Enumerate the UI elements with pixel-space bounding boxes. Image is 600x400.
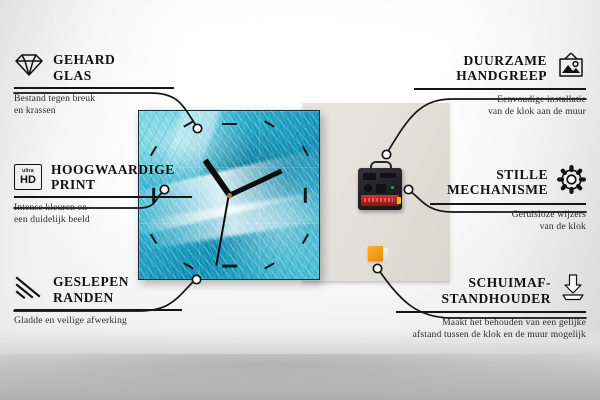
clock-center-pin [227,193,232,198]
clock-tick [222,265,237,268]
infographic-canvas: GEHARD GLAS Bestand tegen breuk en krass… [0,0,600,400]
foam-spacer-side [383,248,388,263]
feature-title: STILLE MECHANISME [447,167,548,197]
ultra-hd-icon-top-label: ultra [22,169,34,174]
clock-tick [222,123,237,126]
clock-tick [304,187,307,202]
feature-title: HOOGWAARDIGE PRINT [51,162,175,192]
feature-rule [14,309,182,311]
diamond-icon [14,52,44,83]
feature-hoogwaardige-print[interactable]: ultra HD HOOGWAARDIGE PRINT Intense kleu… [14,162,192,227]
feature-title: SCHUIMAF- STANDHOUDER [441,275,551,305]
feature-rule [414,88,586,90]
foam-spacer-pad [368,246,383,261]
feature-title: GESLEPEN RANDEN [53,274,129,304]
feature-gehard-glas[interactable]: GEHARD GLAS Bestand tegen breuk en krass… [14,52,174,118]
feature-subtitle: Intense kleuren en een duidelijk beeld [14,202,192,227]
quartz-movement [358,168,402,210]
ultra-hd-icon: ultra HD [14,164,42,190]
picture-hanger-icon [556,52,586,84]
feature-duurzame-handgreep[interactable]: DUURZAME HANDGREEP Eenvoudige installati… [414,52,586,119]
feature-subtitle: Geruisloze wijzers van de klok [430,209,586,234]
diagonal-edges-icon [14,274,44,305]
feature-geslepen-randen[interactable]: GESLEPEN RANDEN Gladde en veilige afwerk… [14,274,182,327]
hanging-loop-icon [370,161,392,173]
feature-rule [14,87,174,89]
feature-title: DUURZAME HANDGREEP [456,53,547,83]
feature-subtitle: Maakt het behouden van een gelijke afsta… [396,317,586,342]
feature-rule [14,196,192,198]
feature-stille-mechanisme[interactable]: STILLE MECHANISME Geruisloze wijzers van… [430,165,586,234]
gear-icon [557,165,586,199]
feature-rule [396,311,586,313]
ultra-hd-icon-main-label: HD [20,175,36,186]
feature-rule [430,203,586,205]
background-floor-vignette [0,354,600,400]
feature-title: GEHARD GLAS [53,52,115,82]
spacer-arrow-icon [560,274,586,307]
battery [361,195,399,206]
feature-subtitle: Gladde en veilige afwerking [14,315,182,327]
feature-subtitle: Bestand tegen breuk en krassen [14,93,174,118]
feature-subtitle: Eenvoudige installatie van de klok aan d… [414,94,586,119]
feature-schuimaf-standhouder[interactable]: SCHUIMAF- STANDHOUDER Maakt het behouden… [396,274,586,342]
